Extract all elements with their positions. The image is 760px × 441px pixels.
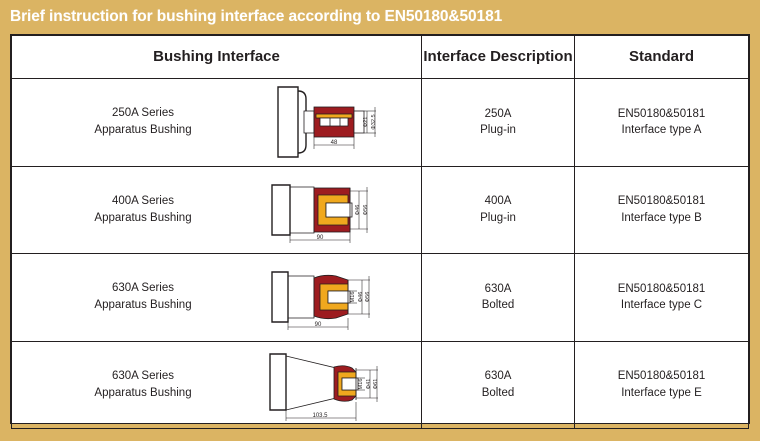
- standard-line1: EN50180&50181: [575, 193, 748, 210]
- standard-line2: Interface type A: [575, 122, 748, 139]
- description-line1: 400A: [422, 193, 574, 210]
- cell-standard: EN50180&50181 Interface type C: [575, 254, 749, 342]
- spec-table-container: Bushing Interface Interface Description …: [10, 34, 750, 424]
- description-line2: Bolted: [422, 297, 574, 314]
- column-header-bushing-interface: Bushing Interface: [12, 36, 422, 79]
- bushing-label-line2: Apparatus Bushing: [94, 297, 191, 314]
- table-header-row: Bushing Interface Interface Description …: [12, 36, 749, 79]
- column-header-standard: Standard: [575, 36, 749, 79]
- dimension-diameter-label-1: Φ46: [355, 204, 361, 215]
- bushing-label-line1: 630A Series: [112, 368, 174, 385]
- cell-standard: EN50180&50181 Interface type B: [575, 166, 749, 254]
- page-root: Brief instruction for bushing interface …: [0, 0, 760, 441]
- bushing-drawing-400a: 90 Φ46 Φ56: [264, 167, 420, 254]
- dimension-diameter-label-2: Φ61: [373, 378, 379, 389]
- bushing-drawing-250a: 48 Φ21 Φ32.5: [264, 79, 420, 166]
- cell-standard: EN50180&50181 Interface type E: [575, 341, 749, 429]
- standard-line2: Interface type C: [575, 297, 748, 314]
- standard-line2: Interface type E: [575, 385, 748, 402]
- dimension-length-label: 90: [317, 235, 324, 241]
- cell-interface-description: 250A Plug-in: [422, 79, 575, 167]
- description-line2: Plug-in: [422, 122, 574, 139]
- dimension-length-label: 48: [331, 140, 338, 146]
- dimension-length-label: 103.5: [312, 413, 328, 419]
- title-banner: Brief instruction for bushing interface …: [0, 0, 760, 34]
- column-header-line1: Interface: [423, 48, 486, 65]
- dimension-diameter-label-2: Φ56: [365, 292, 371, 303]
- description-line1: 250A: [422, 106, 574, 123]
- column-header-line2: Description: [490, 48, 573, 65]
- spec-table: Bushing Interface Interface Description …: [11, 35, 749, 429]
- table-row: 250A Series Apparatus Bushing: [12, 79, 749, 167]
- bushing-label-line1: 630A Series: [112, 280, 174, 297]
- description-line1: 630A: [422, 368, 574, 385]
- description-line2: Plug-in: [422, 210, 574, 227]
- cell-bushing-interface: 400A Series Apparatus Bushing: [12, 166, 422, 254]
- standard-line1: EN50180&50181: [575, 368, 748, 385]
- cell-interface-description: 630A Bolted: [422, 341, 575, 429]
- bushing-label: 250A Series Apparatus Bushing: [12, 79, 274, 166]
- bushing-label-line1: 250A Series: [112, 105, 174, 122]
- standard-line1: EN50180&50181: [575, 106, 748, 123]
- dimension-length-label: 90: [315, 322, 322, 328]
- dimension-diameter-label-1: Φ46: [358, 292, 364, 303]
- bushing-label-line1: 400A Series: [112, 193, 174, 210]
- dimension-diameter-label-1: Φ41: [366, 378, 372, 389]
- bushing-drawing-630a-c: 90 M16 Φ46: [264, 254, 420, 341]
- table-row: 400A Series Apparatus Bushing: [12, 166, 749, 254]
- cell-bushing-interface: 630A Series Apparatus Bushing: [12, 341, 422, 429]
- bushing-label: 400A Series Apparatus Bushing: [12, 167, 274, 254]
- dimension-diameter-label-2: Φ32.5: [371, 115, 377, 130]
- description-line2: Bolted: [422, 385, 574, 402]
- dimension-diameter-label-1: Φ21: [363, 117, 369, 128]
- standard-line1: EN50180&50181: [575, 281, 748, 298]
- cell-bushing-interface: 630A Series Apparatus Bushing: [12, 254, 422, 342]
- dimension-thread-label: M16: [358, 378, 364, 389]
- column-header-interface-description: Interface Description: [422, 36, 575, 79]
- bushing-label: 630A Series Apparatus Bushing: [12, 342, 274, 429]
- cell-interface-description: 630A Bolted: [422, 254, 575, 342]
- bushing-label-line2: Apparatus Bushing: [94, 210, 191, 227]
- bushing-label-line2: Apparatus Bushing: [94, 385, 191, 402]
- dimension-thread-label: M16: [350, 292, 356, 303]
- dimension-diameter-label-2: Φ56: [363, 204, 369, 215]
- bushing-drawing-630a-e: 103.5 M16 Φ4: [264, 342, 420, 429]
- cell-interface-description: 400A Plug-in: [422, 166, 575, 254]
- cell-standard: EN50180&50181 Interface type A: [575, 79, 749, 167]
- table-row: 630A Series Apparatus Bushing: [12, 254, 749, 342]
- table-row: 630A Series Apparatus Bushing: [12, 341, 749, 429]
- description-line1: 630A: [422, 281, 574, 298]
- cell-bushing-interface: 250A Series Apparatus Bushing: [12, 79, 422, 167]
- bushing-label: 630A Series Apparatus Bushing: [12, 254, 274, 341]
- page-title: Brief instruction for bushing interface …: [0, 8, 502, 26]
- standard-line2: Interface type B: [575, 210, 748, 227]
- bushing-label-line2: Apparatus Bushing: [94, 122, 191, 139]
